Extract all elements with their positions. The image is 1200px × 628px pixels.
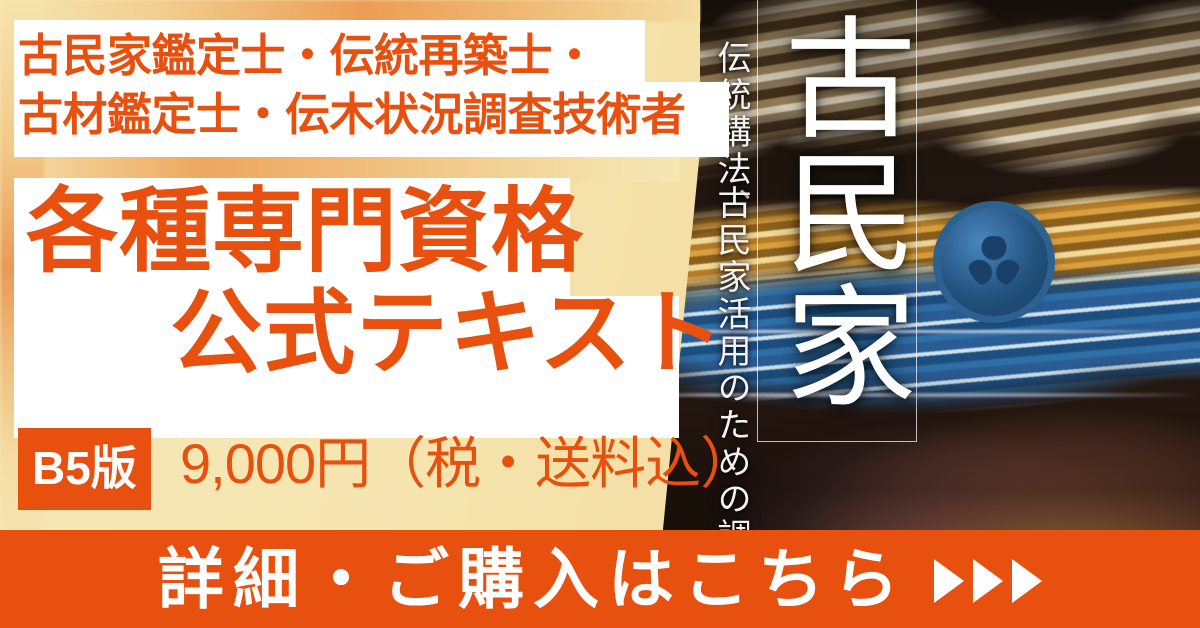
promo-banner: 伝統構法、 古民家活用のための調査と再生の 古民家 古民家鑑定士・伝統再築士・ …	[0, 0, 1200, 628]
cta-bar[interactable]: 詳細・ご購入はこちら	[0, 530, 1200, 628]
arrow-right-icon	[973, 559, 1003, 603]
arrow-right-icon	[1012, 559, 1042, 603]
qualifications-text: 古民家鑑定士・伝統再築士・ 古材鑑定士・伝木状況調査技術者	[18, 26, 728, 145]
qualifications-line-1: 古民家鑑定士・伝統再築士・	[18, 26, 728, 85]
cover-title: 古民家	[770, 10, 905, 412]
headline-line-2: 公式テキスト	[170, 288, 725, 380]
cream-top-gradient-strip	[0, 0, 700, 22]
cta-label: 詳細・ご購入はこちら	[158, 546, 908, 612]
headline-line-1: 各種専門資格	[26, 186, 584, 278]
price-text: 9,000円（税・送料込）	[180, 436, 755, 492]
size-badge: B5版	[18, 428, 151, 510]
qualifications-line-2: 古材鑑定士・伝木状況調査技術者	[18, 85, 728, 144]
arrow-right-icon	[934, 559, 964, 603]
cta-arrows	[934, 559, 1042, 603]
family-crest-medallion-icon	[940, 208, 1048, 316]
